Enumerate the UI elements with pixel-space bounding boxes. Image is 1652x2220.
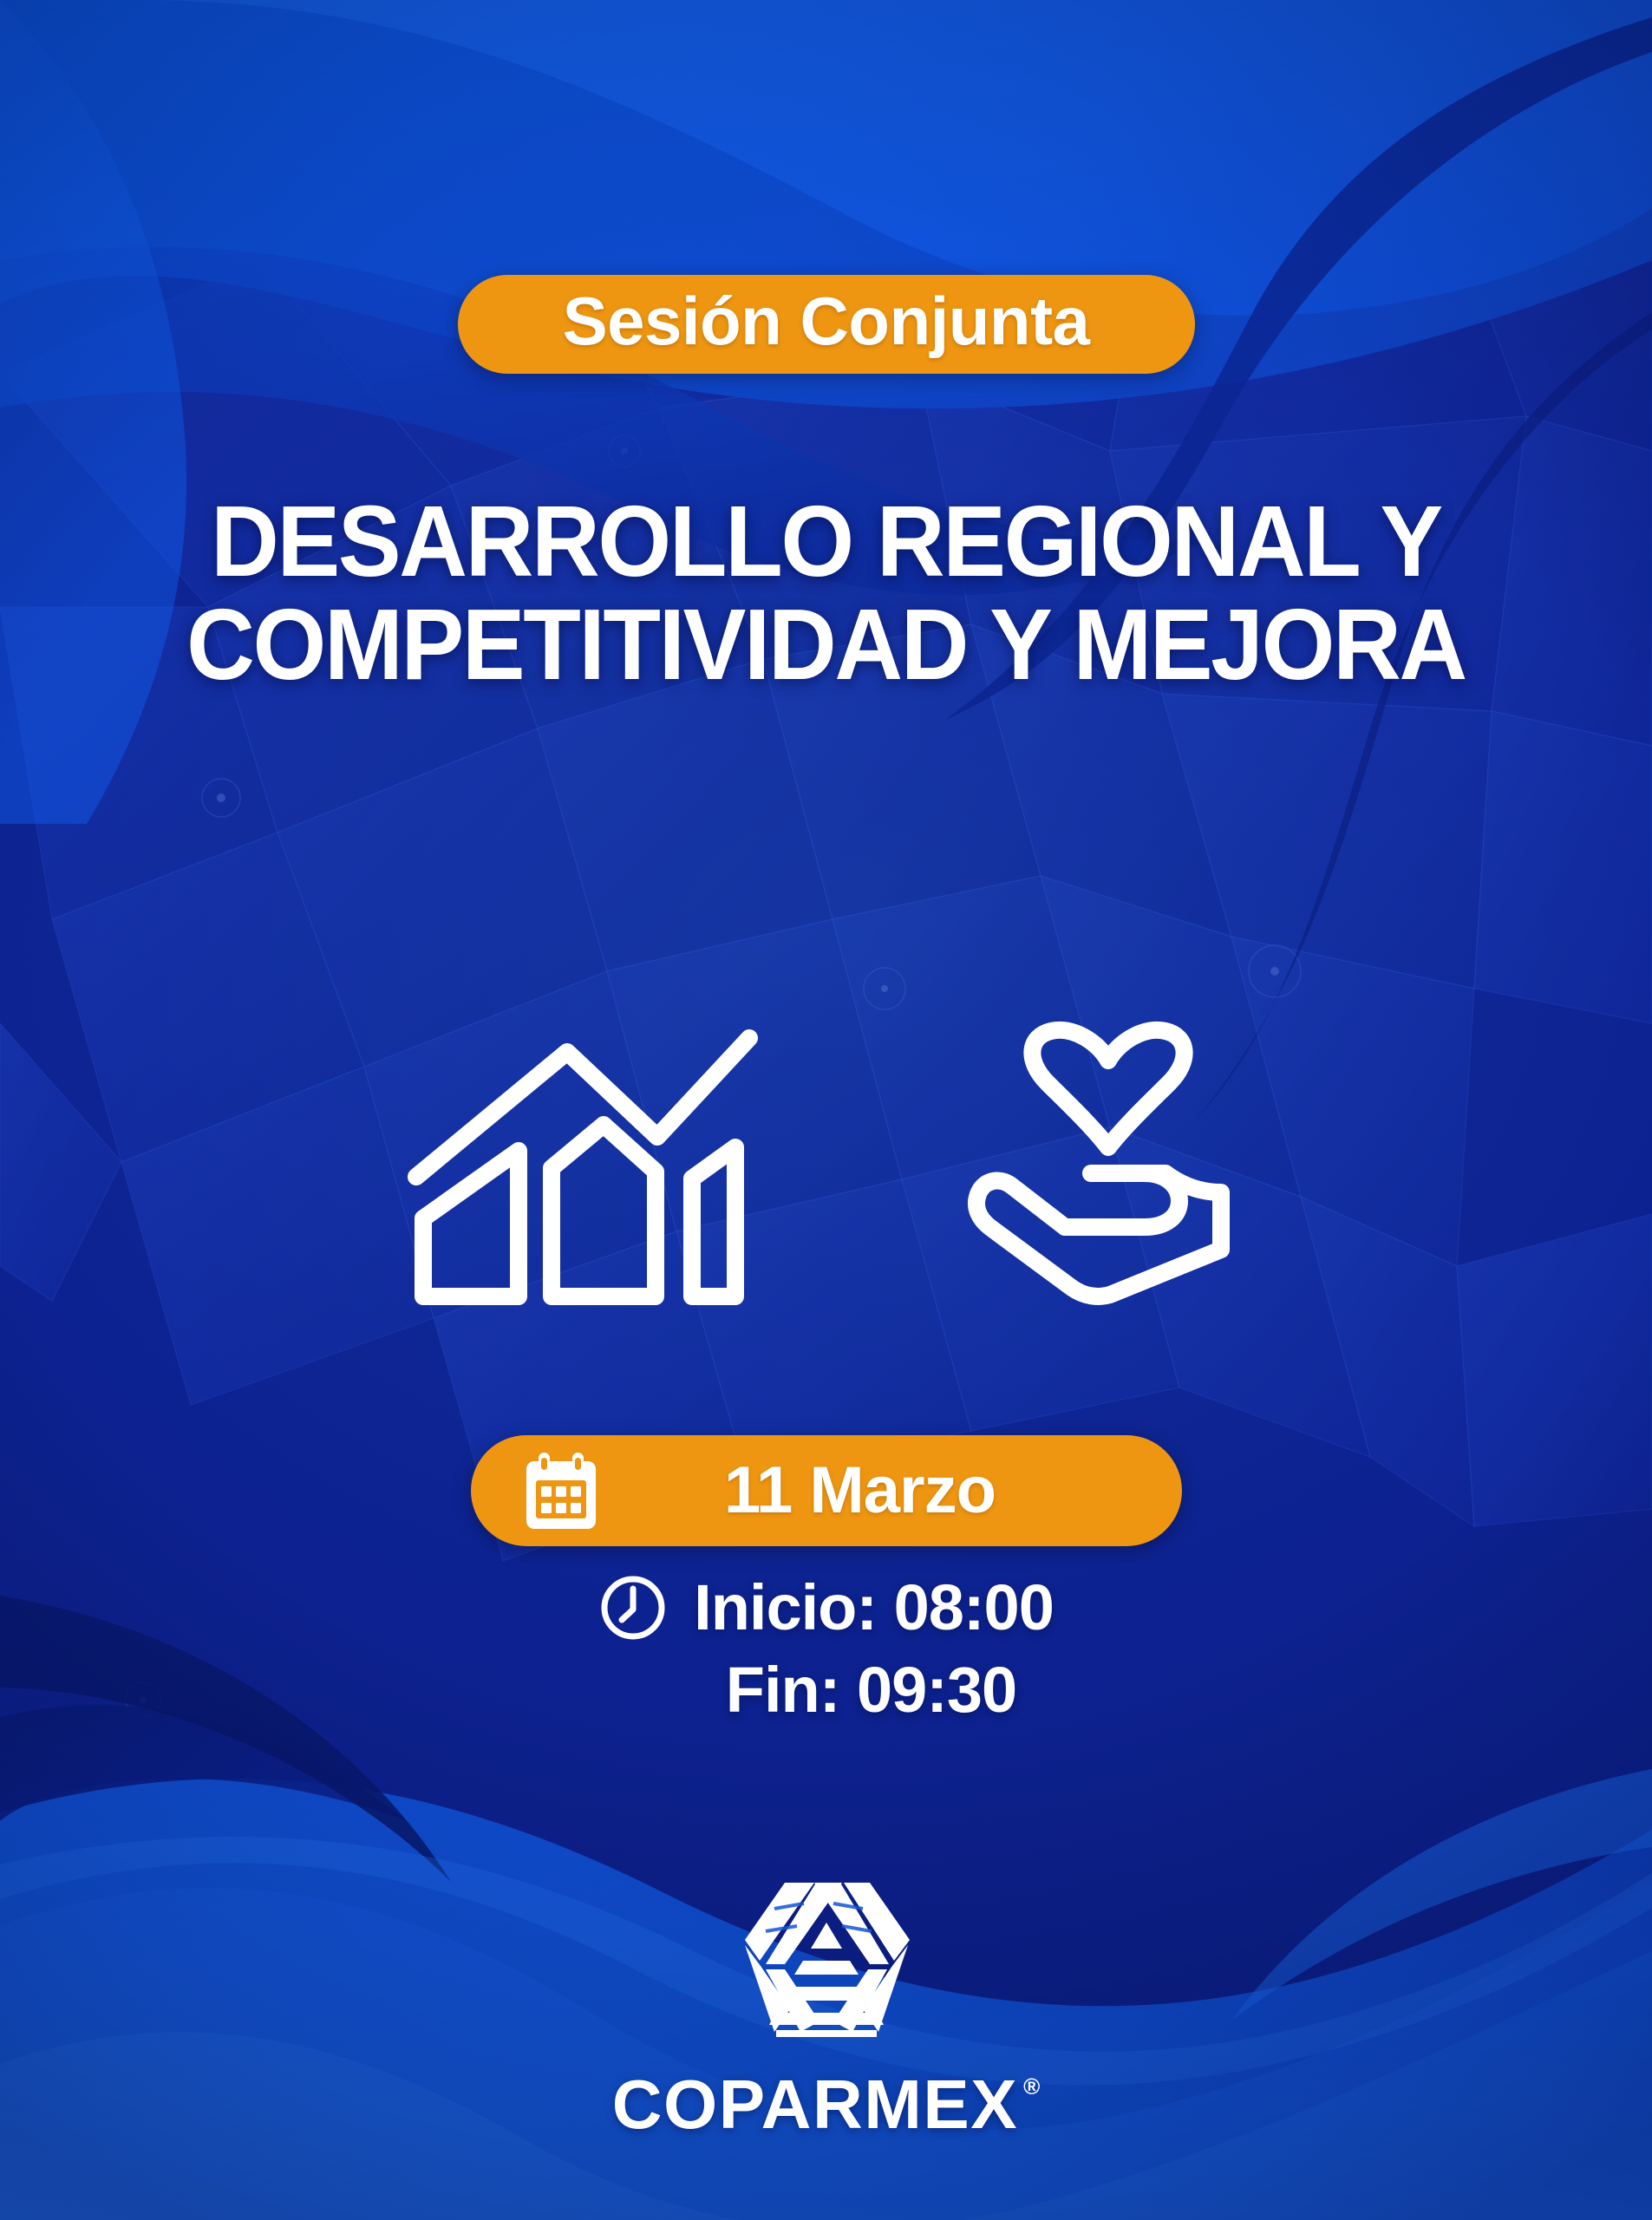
- poster-content: Sesión Conjunta DESARROLLO REGIONAL Y CO…: [0, 0, 1652, 2220]
- clock-icon: [598, 1573, 668, 1642]
- calendar-icon: [519, 1449, 603, 1532]
- title-line-1: DESARROLLO REGIONAL Y: [82, 490, 1570, 593]
- schedule-start-row: Inicio: 08:00: [598, 1570, 1054, 1645]
- growth-buildings-icon: [397, 1019, 761, 1314]
- coparmex-logo-icon: [740, 1877, 913, 2042]
- event-schedule: Inicio: 08:00 Fin: 09:30: [0, 1570, 1652, 1728]
- schedule-end-row: Fin: 09:30: [636, 1652, 1016, 1727]
- page-title: DESARROLLO REGIONAL Y COMPETITIVIDAD Y M…: [0, 490, 1652, 697]
- coparmex-wordmark: COPARMEX ®: [612, 2070, 1041, 2139]
- hand-holding-heart-icon: [961, 1019, 1256, 1314]
- event-date-label: 11 Marzo: [603, 1458, 1133, 1524]
- brand-block: COPARMEX ®: [0, 1877, 1652, 2139]
- title-line-2: COMPETITIVIDAD Y MEJORA: [82, 593, 1570, 696]
- schedule-start-label: Inicio: 08:00: [694, 1570, 1054, 1645]
- brand-name: COPARMEX: [612, 2070, 1018, 2139]
- schedule-end-label: Fin: 09:30: [726, 1652, 1016, 1727]
- session-badge-label: Sesión Conjunta: [563, 287, 1090, 355]
- session-badge: Sesión Conjunta: [458, 275, 1195, 374]
- theme-icons-row: [0, 1019, 1652, 1314]
- event-poster: Sesión Conjunta DESARROLLO REGIONAL Y CO…: [0, 0, 1652, 2220]
- event-date-pill: 11 Marzo: [471, 1435, 1182, 1546]
- registered-trademark-symbol: ®: [1023, 2075, 1040, 2098]
